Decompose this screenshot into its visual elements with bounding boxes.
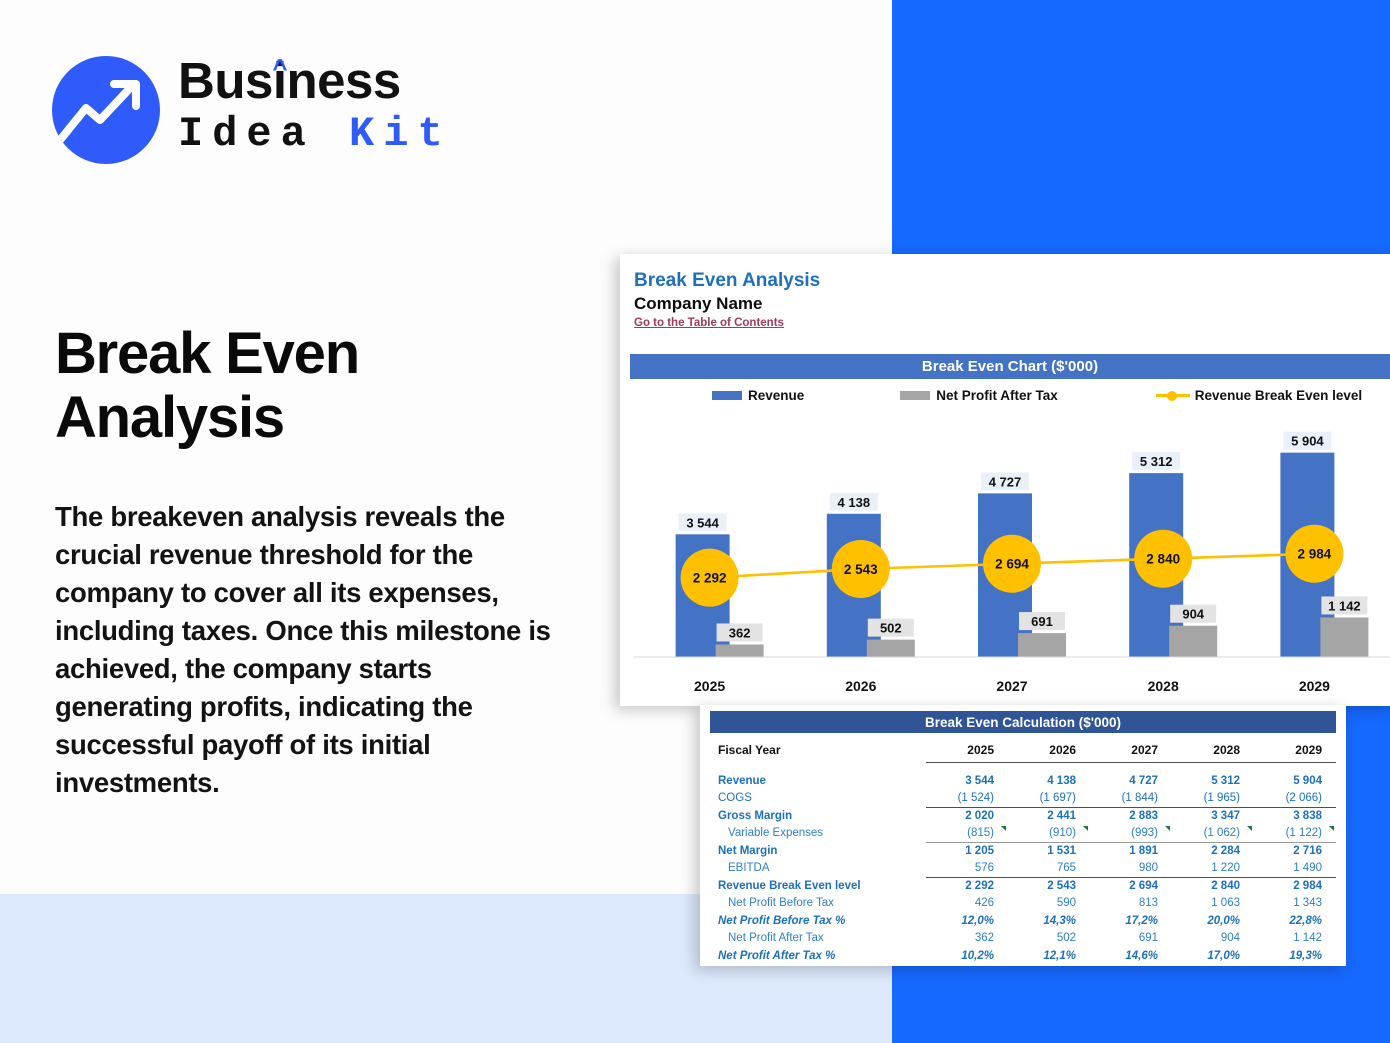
table-cell: 691	[1090, 930, 1172, 948]
growth-arrow-icon	[52, 56, 160, 164]
table-row: Net Margin1 2051 5311 8912 2842 716	[710, 842, 1336, 860]
page-title: Break Even Analysis	[55, 322, 555, 450]
table-cell: 14,3%	[1008, 912, 1090, 930]
legend-swatch-net-profit-icon	[900, 391, 930, 400]
table-cell: 2 292	[926, 877, 1008, 895]
table-spacer-row	[710, 762, 1336, 772]
background-blue-top-right	[892, 0, 1390, 255]
table-cell: 576	[926, 860, 1008, 878]
page-description: The breakeven analysis reveals the cruci…	[55, 498, 555, 802]
table-cell: (815)	[926, 825, 1008, 843]
svg-text:502: 502	[880, 621, 902, 636]
table-cell: 1 205	[926, 842, 1008, 860]
table-cell: 1 531	[1008, 842, 1090, 860]
table-row-label: Net Profit Before Tax %	[710, 912, 926, 930]
table-cell: 14,6%	[1090, 947, 1172, 965]
table-cell: 4 727	[1090, 772, 1172, 790]
table-header-fiscal-year: Fiscal Year	[710, 738, 926, 762]
legend-swatch-break-even-icon	[1156, 389, 1190, 401]
table-cell: 20,0%	[1172, 912, 1254, 930]
break-even-calculation-table: Fiscal Year 2025 2026 2027 2028 2029 Rev…	[710, 738, 1336, 965]
slide-canvas: Bus^iness Idea Kit Break Even Analysis T…	[0, 0, 1390, 1043]
table-cell: 426	[926, 895, 1008, 913]
table-cell: 5 312	[1172, 772, 1254, 790]
table-cell: 2 716	[1254, 842, 1336, 860]
break-even-calculation-panel: Break Even Calculation ($'000) Fiscal Ye…	[700, 705, 1346, 966]
legend-label-revenue: Revenue	[748, 388, 804, 403]
table-row-label: Revenue	[710, 772, 926, 790]
chart-bar-net-profit-after-tax	[1320, 617, 1368, 657]
table-header-year-0: 2025	[926, 738, 1008, 762]
table-cell: 813	[1090, 895, 1172, 913]
legend-item-revenue[interactable]: Revenue	[712, 388, 804, 403]
table-cell: 904	[1172, 930, 1254, 948]
table-header-year-4: 2029	[1254, 738, 1336, 762]
table-row-label: COGS	[710, 790, 926, 808]
table-row: Net Profit Before Tax4265908131 0631 343	[710, 895, 1336, 913]
svg-text:2 694: 2 694	[995, 557, 1029, 572]
table-row: COGS(1 524)(1 697)(1 844)(1 965)(2 066)	[710, 790, 1336, 808]
legend-swatch-revenue-icon	[712, 391, 742, 400]
svg-text:2 543: 2 543	[844, 562, 878, 577]
legend-label-net-profit-after-tax: Net Profit After Tax	[936, 388, 1058, 403]
table-cell: 3 838	[1254, 807, 1336, 825]
table-cell: 17,0%	[1172, 947, 1254, 965]
table-cell: (993)	[1090, 825, 1172, 843]
table-cell: 502	[1008, 930, 1090, 948]
table-cell: (1 965)	[1172, 790, 1254, 808]
table-cell: 10,2%	[926, 947, 1008, 965]
table-cell: 4 138	[1008, 772, 1090, 790]
chart-bar-net-profit-after-tax	[867, 640, 915, 657]
svg-text:2 292: 2 292	[693, 571, 727, 586]
table-cell: 1 891	[1090, 842, 1172, 860]
svg-text:362: 362	[729, 625, 751, 640]
svg-text:904: 904	[1182, 607, 1204, 622]
table-row: Net Profit Before Tax %12,0%14,3%17,2%20…	[710, 912, 1336, 930]
table-row-label: Net Margin	[710, 842, 926, 860]
table-cell: 1 490	[1254, 860, 1336, 878]
table-cell: 3 544	[926, 772, 1008, 790]
svg-text:2 984: 2 984	[1298, 547, 1332, 562]
table-row-label: Gross Margin	[710, 807, 926, 825]
svg-text:2028: 2028	[1148, 678, 1179, 694]
table-row: Gross Margin2 0202 4412 8833 3473 838	[710, 807, 1336, 825]
table-cell: 590	[1008, 895, 1090, 913]
table-cell: 1 063	[1172, 895, 1254, 913]
table-row-label: Variable Expenses	[710, 825, 926, 843]
legend-label-break-even-level: Revenue Break Even level	[1195, 388, 1362, 403]
table-cell: 1 220	[1172, 860, 1254, 878]
table-cell: 2 441	[1008, 807, 1090, 825]
table-cell: 1 343	[1254, 895, 1336, 913]
table-cell: 22,8%	[1254, 912, 1336, 930]
table-row: Net Profit After Tax %10,2%12,1%14,6%17,…	[710, 947, 1336, 965]
table-of-contents-link[interactable]: Go to the Table of Contents	[634, 317, 784, 329]
table-row-label: Net Profit After Tax %	[710, 947, 926, 965]
table-row: Revenue Break Even level2 2922 5432 6942…	[710, 877, 1336, 895]
table-cell: 2 984	[1254, 877, 1336, 895]
table-row: EBITDA5767659801 2201 490	[710, 860, 1336, 878]
svg-text:1 142: 1 142	[1328, 598, 1361, 613]
calculation-band-title: Break Even Calculation ($'000)	[710, 711, 1336, 733]
table-header-year-1: 2026	[1008, 738, 1090, 762]
table-cell: (910)	[1008, 825, 1090, 843]
brand-name-line1: Bus^iness	[178, 54, 452, 108]
table-header-year-3: 2028	[1172, 738, 1254, 762]
break-even-chart-svg: 3 54436220254 13850220264 72769120275 31…	[634, 414, 1390, 700]
legend-item-break-even-level[interactable]: Revenue Break Even level	[1156, 388, 1362, 403]
table-row-label: EBITDA	[710, 860, 926, 878]
table-cell: 1 142	[1254, 930, 1336, 948]
table-header-year-2: 2027	[1090, 738, 1172, 762]
table-cell: 2 694	[1090, 877, 1172, 895]
table-cell: (1 062)	[1172, 825, 1254, 843]
chart-plot-area: 3 54436220254 13850220264 72769120275 31…	[634, 414, 1390, 700]
table-row-label: Net Profit Before Tax	[710, 895, 926, 913]
table-row: Net Profit After Tax3625026919041 142	[710, 930, 1336, 948]
svg-text:3 544: 3 544	[686, 515, 719, 530]
sheet-title: Break Even Analysis	[634, 270, 820, 292]
table-row: Revenue3 5444 1384 7275 3125 904	[710, 772, 1336, 790]
svg-text:2027: 2027	[996, 678, 1027, 694]
svg-text:4 138: 4 138	[838, 495, 871, 510]
table-cell: 2 543	[1008, 877, 1090, 895]
table-row-label: Revenue Break Even level	[710, 877, 926, 895]
svg-text:4 727: 4 727	[989, 474, 1022, 489]
table-cell: 2 883	[1090, 807, 1172, 825]
table-cell: 12,0%	[926, 912, 1008, 930]
svg-text:2026: 2026	[845, 678, 876, 694]
table-cell: 2 840	[1172, 877, 1254, 895]
table-row-label: Net Profit After Tax	[710, 930, 926, 948]
table-row: Variable Expenses(815)(910)(993)(1 062)(…	[710, 825, 1336, 843]
brand-name-kit: Kit	[349, 110, 452, 158]
svg-text:2025: 2025	[694, 678, 725, 694]
brand-name-line2: Idea Kit	[178, 110, 452, 158]
chart-legend: Revenue Net Profit After Tax Revenue Bre…	[630, 384, 1390, 406]
svg-text:2029: 2029	[1299, 678, 1330, 694]
table-cell: 3 347	[1172, 807, 1254, 825]
table-cell: 5 904	[1254, 772, 1336, 790]
svg-text:691: 691	[1031, 614, 1053, 629]
chart-bar-net-profit-after-tax	[1169, 626, 1217, 657]
chart-bar-net-profit-after-tax	[716, 644, 764, 657]
legend-item-net-profit-after-tax[interactable]: Net Profit After Tax	[900, 388, 1058, 403]
table-cell: 19,3%	[1254, 947, 1336, 965]
table-cell: 2 284	[1172, 842, 1254, 860]
svg-text:5 312: 5 312	[1140, 454, 1173, 469]
table-cell: 12,1%	[1008, 947, 1090, 965]
chart-band-title: Break Even Chart ($'000)	[630, 354, 1390, 379]
chart-bar-net-profit-after-tax	[1018, 633, 1066, 657]
table-cell: 2 020	[926, 807, 1008, 825]
table-header-row: Fiscal Year 2025 2026 2027 2028 2029	[710, 738, 1336, 762]
svg-text:5 904: 5 904	[1291, 434, 1324, 449]
table-cell: (1 122)	[1254, 825, 1336, 843]
table-cell: 765	[1008, 860, 1090, 878]
table-cell: (2 066)	[1254, 790, 1336, 808]
sheet-company-name: Company Name	[634, 294, 762, 314]
table-cell: (1 697)	[1008, 790, 1090, 808]
table-cell: 17,2%	[1090, 912, 1172, 930]
table-cell: 362	[926, 930, 1008, 948]
table-cell: (1 524)	[926, 790, 1008, 808]
brand-logo: Bus^iness Idea Kit	[52, 52, 432, 170]
table-cell: 980	[1090, 860, 1172, 878]
table-cell: (1 844)	[1090, 790, 1172, 808]
svg-text:2 840: 2 840	[1146, 552, 1180, 567]
break-even-chart-panel: Break Even Analysis Company Name Go to t…	[620, 254, 1390, 706]
